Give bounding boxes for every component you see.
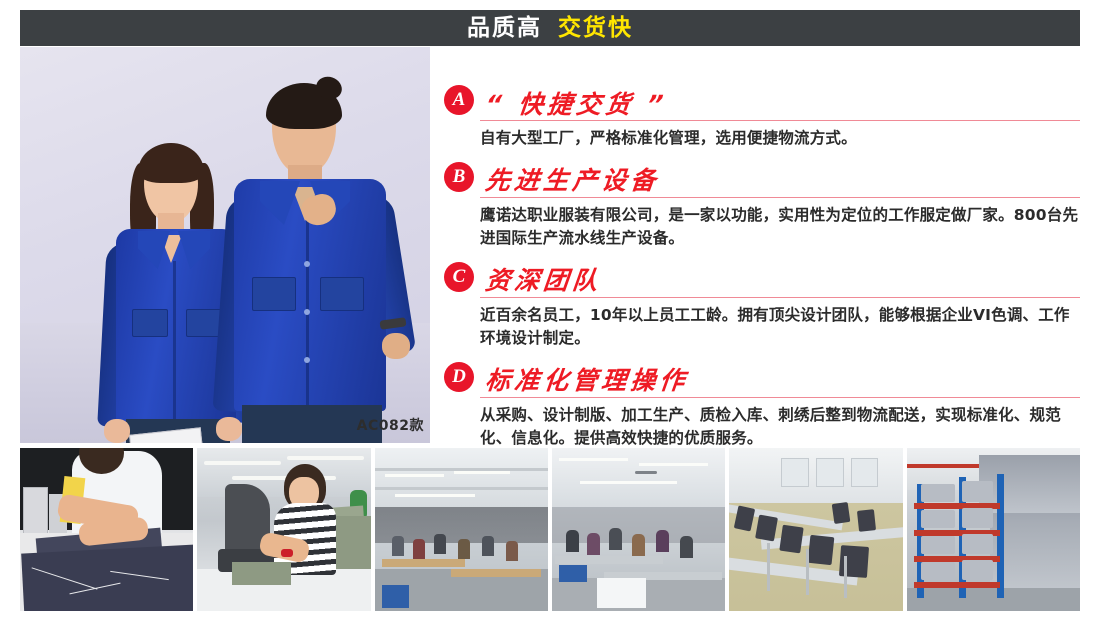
feature-d-body: 从采购、设计制版、加工生产、质检入库、刺绣后整到物流配送，实现标准化、规范化、信… <box>480 404 1080 451</box>
t4-worker-1 <box>566 530 579 552</box>
male-button-1 <box>304 261 310 267</box>
t6-stored-goods-4 <box>921 562 956 580</box>
t4-light-tube-2 <box>639 463 708 466</box>
hero-product-photo: AC082款 <box>20 47 430 443</box>
t5-garment-panel-4 <box>808 535 835 565</box>
feature-c-heading: C 资深团队 <box>444 257 1080 295</box>
t6-stored-goods-1 <box>921 484 956 502</box>
female-hair-top <box>138 143 204 183</box>
thumbnail-conveyor-line <box>729 448 902 611</box>
t5-support-leg-2 <box>806 549 809 595</box>
t4-worker-3 <box>609 528 622 550</box>
t3-ceiling-beam-2 <box>375 487 548 490</box>
header-title-accent: 交货快 <box>558 17 633 40</box>
t5-window-3 <box>851 458 879 487</box>
feature-b-body: 鹰诺达职业服装有限公司，是一家以功能，实用性为定位的工作服定做厂家。800台先进… <box>480 204 1080 251</box>
feature-b-badge-icon: B <box>444 162 474 192</box>
male-button-3 <box>304 357 310 363</box>
t3-bench-2 <box>451 569 541 577</box>
female-hand-left <box>104 419 130 443</box>
t5-support-leg-1 <box>767 543 770 592</box>
t3-ceiling <box>375 448 548 507</box>
t6-floor <box>907 588 1080 611</box>
t4-bench-1 <box>555 556 662 564</box>
male-pocket-left <box>252 277 296 311</box>
feature-item-c: C 资深团队 近百余名员工，10年以上员工工龄。拥有顶尖设计团队，能够根据企业V… <box>444 257 1080 351</box>
feature-b-title: 先进生产设备 <box>484 168 1083 194</box>
thumbnail-factory-floor-2 <box>552 448 725 611</box>
t3-worker-4 <box>458 539 470 559</box>
feature-a-body: 自有大型工厂，严格标准化管理，选用便捷物流方式。 <box>480 127 1080 151</box>
male-hand-left <box>382 333 410 359</box>
t4-ceiling-fan <box>635 471 657 474</box>
t4-worker-4 <box>632 534 645 556</box>
t5-window-1 <box>781 458 809 487</box>
hero-scene <box>20 47 430 443</box>
header-title-primary: 品质高 <box>467 17 542 40</box>
t3-worker-5 <box>482 536 494 556</box>
product-code-label: AC082款 <box>357 415 424 435</box>
t3-light-tube-1 <box>385 474 444 477</box>
t3-bench-1 <box>382 559 465 567</box>
factory-photo-strip <box>20 448 1080 611</box>
t6-stored-goods-3 <box>921 536 956 554</box>
t3-worker-1 <box>392 536 404 556</box>
feature-a-heading: A “ 快捷交货 ” <box>444 80 1080 118</box>
feature-c-badge-icon: C <box>444 262 474 292</box>
t3-worker-3 <box>434 534 446 554</box>
t3-worker-2 <box>413 539 425 559</box>
feature-d-divider <box>480 397 1080 398</box>
t2-red-bracelet <box>281 549 293 557</box>
t4-blue-garment <box>559 565 587 581</box>
male-pocket-right <box>320 277 364 311</box>
t6-stored-goods-6 <box>962 508 993 528</box>
t5-garment-panel-7 <box>857 509 876 532</box>
male-hair <box>266 83 342 129</box>
t4-light-tube-1 <box>559 458 628 461</box>
t1-fabric-main <box>22 544 194 611</box>
t2-fabric-on-table <box>232 562 291 585</box>
t4-white-cloth <box>597 578 646 607</box>
header-banner: 品质高 交货快 <box>20 10 1080 46</box>
t3-light-tube-2 <box>454 471 509 474</box>
t5-garment-panel-6 <box>832 502 850 524</box>
promo-page: 品质高 交货快 <box>0 0 1100 619</box>
t6-stored-goods-2 <box>921 510 956 528</box>
t4-light-tube-3 <box>580 481 677 484</box>
thumbnail-sewing-operator <box>197 448 370 611</box>
feature-c-divider <box>480 297 1080 298</box>
feature-b-divider <box>480 197 1080 198</box>
feature-item-b: B 先进生产设备 鹰诺达职业服装有限公司，是一家以功能，实用性为定位的工作服定做… <box>444 157 1080 251</box>
male-button-2 <box>304 309 310 315</box>
feature-item-d: D 标准化管理操作 从采购、设计制版、加工生产、质检入库、刺绣后整到物流配送，实… <box>444 357 1080 451</box>
feature-c-body: 近百余名员工，10年以上员工工龄。拥有顶尖设计团队，能够根据企业VI色调、工作环… <box>480 304 1080 351</box>
female-button-placket <box>173 261 176 421</box>
thumbnail-factory-floor-1 <box>375 448 548 611</box>
t4-ceiling <box>552 448 725 500</box>
feature-b-heading: B 先进生产设备 <box>444 157 1080 195</box>
feature-item-a: A “ 快捷交货 ” 自有大型工厂，严格标准化管理，选用便捷物流方式。 <box>444 80 1080 151</box>
female-hand-right <box>216 417 242 441</box>
t5-garment-panel-3 <box>780 525 804 554</box>
feature-a-title: “ 快捷交货 ” <box>484 92 1083 118</box>
feature-d-heading: D 标准化管理操作 <box>444 357 1080 395</box>
feature-list: A “ 快捷交货 ” 自有大型工厂，严格标准化管理，选用便捷物流方式。 B 先进… <box>444 80 1080 440</box>
t6-hanging-garment-bags <box>979 455 1080 520</box>
t3-worker-6 <box>506 541 518 561</box>
t6-rack-post-3 <box>997 474 1004 598</box>
t5-window-2 <box>816 458 844 487</box>
t4-worker-2 <box>587 533 600 555</box>
female-pocket-right <box>186 309 222 337</box>
t4-worker-5 <box>656 530 669 552</box>
thumbnail-cutting-room <box>20 448 193 611</box>
t2-light-tube-1 <box>204 461 280 465</box>
feature-a-divider <box>480 120 1080 121</box>
t6-rack-shelf-4 <box>914 582 1001 588</box>
feature-a-badge-icon: A <box>444 85 474 115</box>
t3-light-tube-3 <box>395 494 475 497</box>
feature-c-title: 资深团队 <box>484 268 1083 294</box>
t6-stored-goods-5 <box>962 481 993 502</box>
t2-light-tube-2 <box>287 456 363 460</box>
thumbnail-warehouse-racks <box>907 448 1080 611</box>
feature-d-badge-icon: D <box>444 362 474 392</box>
feature-d-title: 标准化管理操作 <box>484 368 1083 394</box>
female-pocket-left <box>132 309 168 337</box>
t4-worker-6 <box>680 536 693 558</box>
t3-blue-bin <box>382 585 410 608</box>
t6-stored-goods-8 <box>962 560 993 580</box>
t5-support-leg-3 <box>844 556 847 598</box>
t6-stored-goods-7 <box>962 534 993 554</box>
